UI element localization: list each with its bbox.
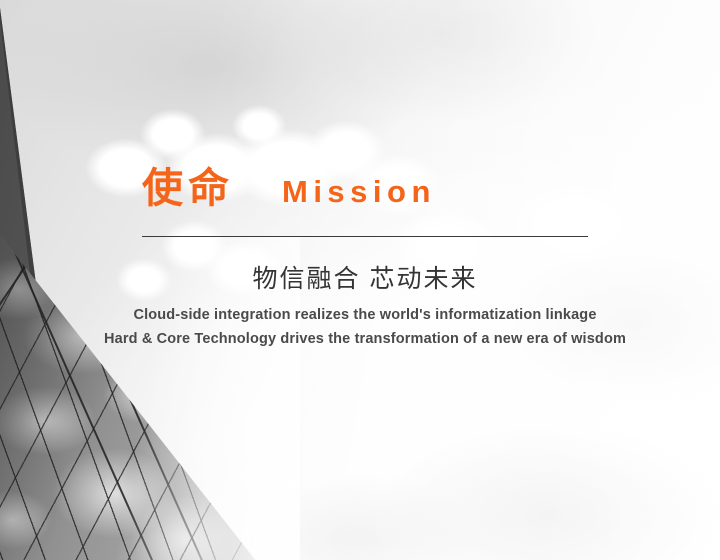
banner-heading: 使命 Mission bbox=[142, 168, 588, 209]
heading-english: Mission bbox=[282, 176, 436, 207]
heading-chinese: 使命 bbox=[142, 168, 234, 209]
banner-taglines: Cloud-side integration realizes the worl… bbox=[60, 303, 670, 351]
tagline-line-2: Hard & Core Technology drives the transf… bbox=[60, 327, 670, 351]
mission-banner: 使命 Mission 物信融合 芯动未来 Cloud-side integrat… bbox=[0, 0, 720, 560]
banner-content: 使命 Mission 物信融合 芯动未来 Cloud-side integrat… bbox=[0, 0, 720, 560]
heading-divider bbox=[142, 236, 588, 237]
banner-subtitle: 物信融合 芯动未来 bbox=[142, 259, 588, 295]
tagline-line-1: Cloud-side integration realizes the worl… bbox=[60, 303, 670, 327]
